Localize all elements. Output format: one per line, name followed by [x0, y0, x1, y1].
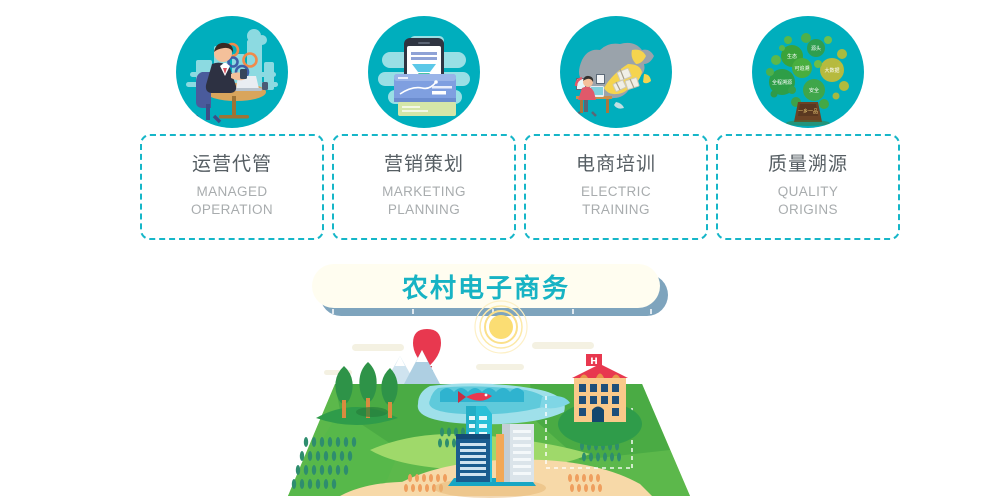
- service-card-title-en-line2: ORIGINS: [778, 201, 839, 219]
- service-icon-wrap-3[interactable]: [560, 16, 672, 128]
- svg-text:一乡一品: 一乡一品: [798, 109, 818, 115]
- rural-village-landscape-illustration: H: [280, 300, 700, 500]
- svg-text:全程溯源: 全程溯源: [772, 79, 792, 86]
- svg-text:源头: 源头: [811, 45, 821, 52]
- service-card-title-cn: 运营代管: [192, 154, 272, 177]
- service-card-title-cn: 电商培训: [576, 154, 656, 177]
- svg-text:安全: 安全: [809, 87, 819, 94]
- service-card-title-cn: 质量溯源: [768, 154, 848, 177]
- service-cards-row: 运营代管 MANAGED OPERATION 营销策划 MARKETING PL…: [0, 134, 1000, 242]
- svg-text:H: H: [590, 357, 598, 367]
- page-title: 农村电子商务: [402, 268, 570, 305]
- service-card-marketing-planning[interactable]: 营销策划 MARKETING PLANNING: [332, 134, 516, 240]
- svg-text:可追溯: 可追溯: [794, 65, 809, 72]
- service-card-title-en: MARKETING PLANNING: [382, 183, 466, 219]
- bubble-tree-quality-icon: 生态 源头 可追溯 大数据 全程溯源 安全 一乡一品: [752, 16, 864, 128]
- service-card-title-en: ELECTRIC TRAINING: [581, 183, 651, 219]
- service-icon-wrap-4[interactable]: 生态 源头 可追溯 大数据 全程溯源 安全 一乡一品: [752, 16, 864, 128]
- service-icon-wrap-2[interactable]: [368, 16, 480, 128]
- svg-text:生态: 生态: [787, 53, 797, 60]
- service-icon-wrap-1[interactable]: [176, 16, 288, 128]
- smartphone-marketing-funnel-icon: [368, 16, 480, 128]
- service-card-title-cn: 营销策划: [384, 154, 464, 177]
- service-card-title-en: QUALITY ORIGINS: [778, 183, 839, 219]
- service-card-title-en: MANAGED OPERATION: [191, 183, 273, 219]
- service-card-title-en-line1: QUALITY: [778, 183, 839, 201]
- service-card-quality-origins[interactable]: 质量溯源 QUALITY ORIGINS: [716, 134, 900, 240]
- china-map-ecommerce-training-icon: [560, 16, 672, 128]
- service-card-title-en-line2: PLANNING: [382, 201, 466, 219]
- service-card-title-en-line2: TRAINING: [581, 201, 651, 219]
- sun-icon: [475, 301, 527, 353]
- service-card-title-en-line1: MARKETING: [382, 183, 466, 201]
- svg-text:大数据: 大数据: [824, 67, 839, 74]
- service-card-title-en-line1: ELECTRIC: [581, 183, 651, 201]
- businessman-desk-laptop-icon: [176, 16, 288, 128]
- service-card-title-en-line2: OPERATION: [191, 201, 273, 219]
- service-card-electric-training[interactable]: 电商培训 ELECTRIC TRAINING: [524, 134, 708, 240]
- service-card-title-en-line1: MANAGED: [191, 183, 273, 201]
- service-icons-row: 生态 源头 可追溯 大数据 全程溯源 安全 一乡一品: [0, 16, 1000, 138]
- service-card-managed-operation[interactable]: 运营代管 MANAGED OPERATION: [140, 134, 324, 240]
